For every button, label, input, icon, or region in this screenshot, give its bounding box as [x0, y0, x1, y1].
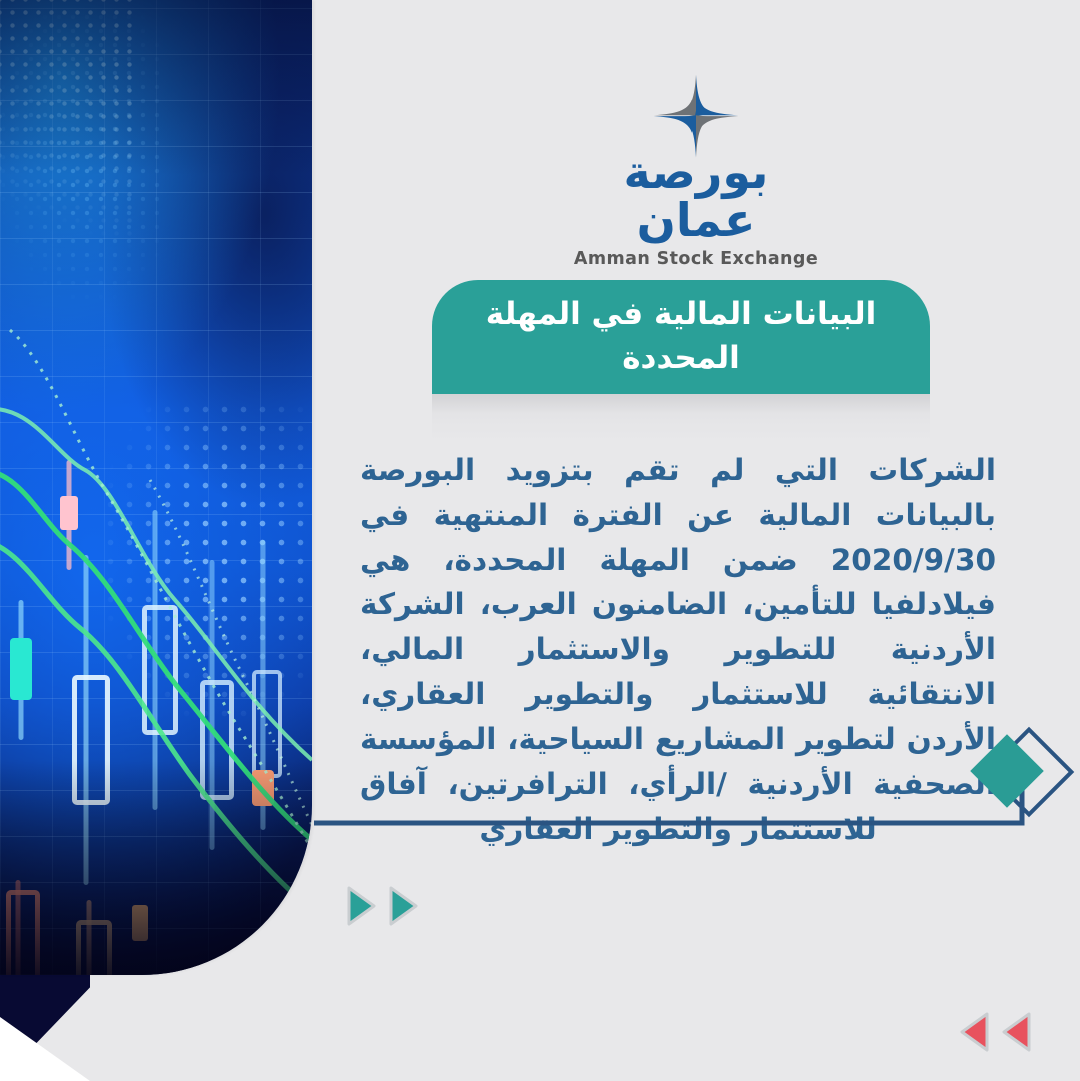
logo: بورصة عمان Amman Stock Exchange — [566, 72, 826, 269]
double-chevron-right-icon[interactable] — [344, 885, 420, 927]
logo-arabic-text: بورصة عمان — [566, 148, 826, 245]
banner-title: البيانات المالية في المهلة المحددة — [432, 280, 930, 394]
poster-page: بورصة عمان Amman Stock Exchange البيانات… — [0, 0, 1080, 1081]
double-chevron-left-icon[interactable] — [958, 1011, 1034, 1053]
title-banner: البيانات المالية في المهلة المحددة — [432, 280, 930, 394]
stock-market-chart-photo — [0, 0, 312, 975]
artwork-vignette — [0, 0, 312, 975]
content-column: بورصة عمان Amman Stock Exchange البيانات… — [312, 0, 1080, 1081]
connector-line — [312, 780, 1080, 840]
chevron-right-icon — [386, 885, 420, 927]
logo-english-text: Amman Stock Exchange — [566, 249, 826, 269]
chevron-right-icon — [344, 885, 378, 927]
chevron-left-icon — [1000, 1011, 1034, 1053]
chevron-left-icon — [958, 1011, 992, 1053]
